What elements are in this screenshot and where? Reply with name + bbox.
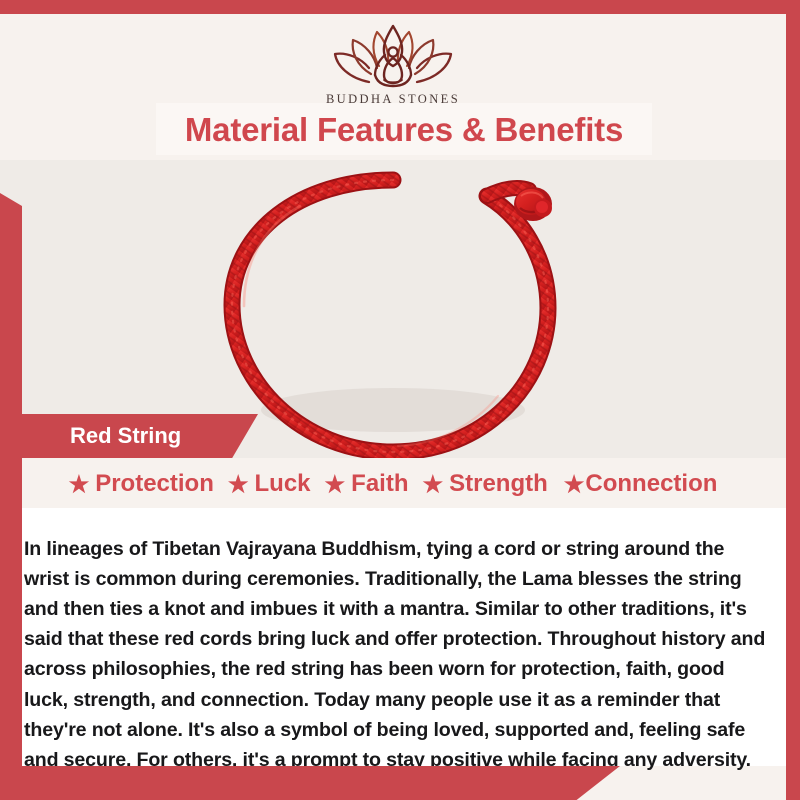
material-name-ribbon: Red String	[0, 414, 258, 458]
star-icon: ★	[422, 473, 443, 496]
description-panel: In lineages of Tibetan Vajrayana Buddhis…	[0, 508, 786, 766]
bottom-accent-bar	[0, 766, 620, 800]
description-text: In lineages of Tibetan Vajrayana Buddhis…	[24, 534, 768, 776]
benefits-row: ★ Protection ★ Luck ★ Faith ★ Strength ★…	[0, 460, 786, 508]
benefit-label: Connection	[585, 470, 717, 498]
benefit-item-faith: ★ Faith	[325, 470, 409, 498]
infographic-card: BUDDHA STONES	[0, 0, 800, 800]
lotus-meditation-figure-icon	[329, 22, 457, 90]
left-accent-stripe	[0, 193, 22, 770]
star-icon: ★	[69, 473, 90, 496]
benefit-item-protection: ★ Protection	[69, 470, 214, 498]
material-name: Red String	[0, 425, 181, 447]
star-icon: ★	[228, 473, 249, 496]
benefit-label: Strength	[449, 470, 548, 498]
page-title: Material Features & Benefits	[185, 113, 623, 146]
benefit-item-strength: ★ Strength	[422, 470, 547, 498]
product-hero	[0, 160, 786, 458]
benefit-item-luck: ★ Luck	[228, 470, 311, 498]
benefit-label: Protection	[95, 470, 214, 498]
star-icon: ★	[325, 473, 346, 496]
star-icon: ★	[564, 473, 585, 496]
benefit-item-connection: ★ Connection	[564, 470, 718, 498]
brand-lockup: BUDDHA STONES	[326, 22, 460, 107]
benefit-label: Faith	[351, 470, 408, 498]
top-edge-accent	[0, 0, 800, 14]
right-edge-accent	[786, 0, 800, 800]
title-plaque: Material Features & Benefits	[156, 103, 652, 155]
benefit-label: Luck	[255, 470, 311, 498]
red-braided-bracelet-image	[0, 160, 786, 458]
